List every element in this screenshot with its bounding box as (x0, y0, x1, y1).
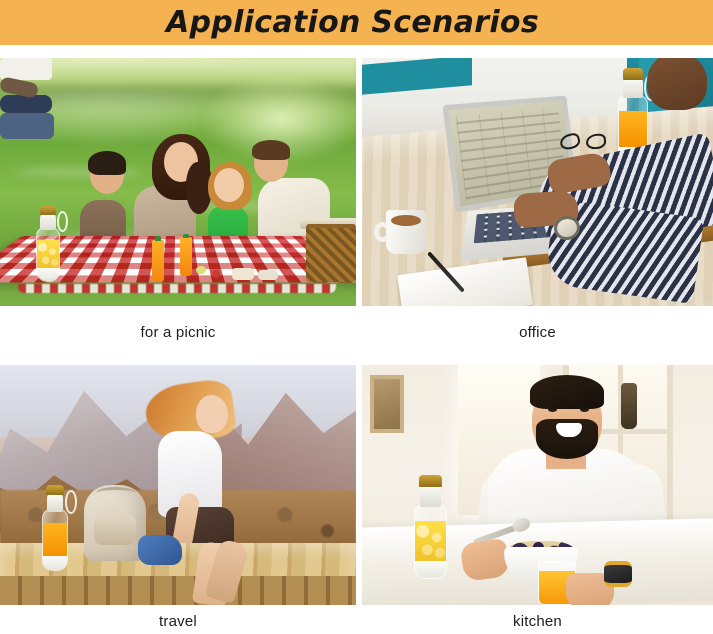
scenario-cell-kitchen: kitchen (362, 365, 713, 605)
portable-blender-bottle (414, 475, 447, 579)
coffee-surface (391, 215, 421, 226)
office-person-head (647, 58, 707, 110)
portable-blender-bottle (42, 485, 68, 571)
portable-blender-bottle (36, 206, 60, 282)
wristwatch (604, 561, 632, 587)
bottle-handle-ring (57, 211, 68, 232)
father-jeans (0, 113, 54, 139)
girl-head (214, 168, 244, 202)
scenario-cell-office: office (362, 58, 713, 306)
caption-kitchen: kitchen (362, 613, 713, 630)
scenario-cell-travel: travel (0, 365, 356, 605)
scenario-grid: for a picnic (0, 45, 713, 634)
application-scenarios-page: Application Scenarios (0, 0, 713, 634)
office-photo (362, 58, 713, 306)
wall-picture-frame (370, 375, 404, 433)
juice-bottle (180, 234, 192, 276)
page-title: Application Scenarios (166, 5, 539, 40)
page-header-banner: Application Scenarios (0, 0, 713, 45)
deck-front-edge (0, 576, 356, 605)
decor-vase (621, 383, 637, 429)
picnic-food-container (232, 268, 254, 280)
boy-hair (88, 151, 126, 175)
picnic-blanket-fringe (18, 284, 336, 293)
eyeglasses (560, 134, 606, 152)
caption-travel: travel (0, 613, 356, 630)
bottle-handle-ring (65, 490, 77, 514)
woman-head (196, 395, 228, 433)
scenario-cell-picnic: for a picnic (0, 58, 356, 306)
backpack-strap (96, 487, 136, 499)
caption-picnic: for a picnic (0, 324, 356, 341)
man-hair (530, 375, 604, 409)
folded-clothing (138, 535, 182, 565)
picnic-photo (0, 58, 356, 306)
picnic-family (0, 58, 54, 139)
kitchen-photo (362, 365, 713, 605)
girl-legs (0, 95, 52, 113)
father-hair (252, 140, 290, 160)
juice-bottle (152, 236, 164, 282)
picnic-food-container (258, 270, 278, 280)
mug-handle (374, 222, 391, 242)
caption-office: office (362, 324, 713, 341)
picnic-food (196, 266, 206, 274)
picnic-basket (306, 224, 356, 282)
coffee-mug (386, 210, 426, 254)
picnic-food (212, 270, 220, 278)
travel-photo (0, 365, 356, 605)
